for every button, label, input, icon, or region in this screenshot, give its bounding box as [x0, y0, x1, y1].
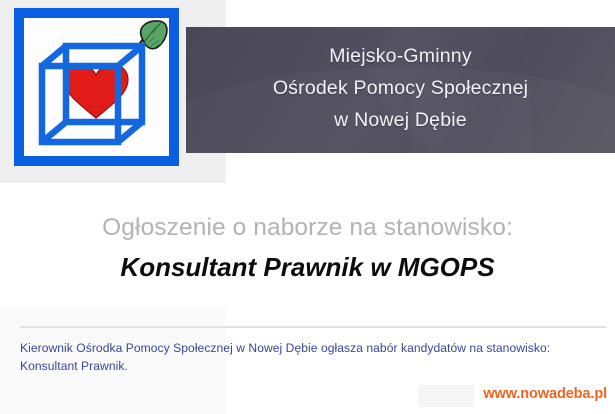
institution-name-line-2: Ośrodek Pomocy Społecznej [186, 72, 615, 104]
horizontal-divider [20, 326, 606, 328]
mgops-logo [14, 8, 179, 166]
institution-name: Miejsko-Gminny Ośrodek Pomocy Społecznej… [186, 27, 615, 136]
announcement-body-text: Kierownik Ośrodka Pomocy Społecznej w No… [20, 339, 598, 375]
logo-canvas [24, 18, 169, 156]
institution-name-line-1: Miejsko-Gminny [186, 40, 615, 72]
website-url[interactable]: www.nowadeba.pl [483, 386, 607, 402]
institution-name-line-3: w Nowej Dębie [186, 104, 615, 136]
announcement-subtitle: Ogłoszenie o naborze na stanowisko: [0, 212, 615, 244]
announcement-position-title: Konsultant Prawnik w MGOPS [0, 248, 615, 286]
background-patch [418, 385, 474, 407]
announcement-title-block: Ogłoszenie o naborze na stanowisko: Kons… [0, 212, 615, 286]
slide-canvas: Miejsko-Gminny Ośrodek Pomocy Społecznej… [0, 0, 615, 414]
logo-artwork-icon [24, 18, 169, 156]
institution-header-banner: Miejsko-Gminny Ośrodek Pomocy Społecznej… [186, 27, 615, 153]
